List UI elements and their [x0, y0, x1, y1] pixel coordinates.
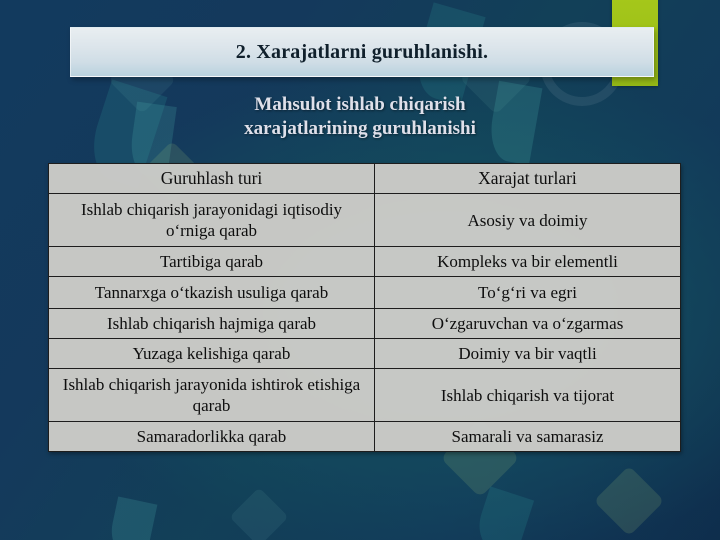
cell-group-type: Ishlab chiqarish jarayonidagi iqtisodiy … [49, 194, 375, 247]
cell-cost-type: Oʻzgaruvchan va oʻzgarmas [375, 309, 681, 339]
cell-group-type: Ishlab chiqarish hajmiga qarab [49, 309, 375, 339]
subtitle: Mahsulot ishlab chiqarish xarajatlarinin… [0, 93, 720, 141]
table-row: Ishlab chiqarish hajmiga qarab Oʻzgaruvc… [49, 309, 681, 339]
leaf-watermark-icon [594, 466, 665, 537]
leaf-watermark-icon [472, 486, 534, 540]
cell-cost-type: Doimiy va bir vaqtli [375, 339, 681, 369]
subtitle-line-2: xarajatlarining guruhlanishi [0, 117, 720, 141]
cell-cost-type: Samarali va samarasiz [375, 422, 681, 452]
cell-group-type: Tartibiga qarab [49, 247, 375, 277]
title-banner: 2. Xarajatlarni guruhlanishi. [70, 27, 654, 77]
column-header-cost-type: Xarajat turlari [375, 164, 681, 194]
subtitle-line-1: Mahsulot ishlab chiqarish [0, 93, 720, 117]
table-row: Ishlab chiqarish jarayonidagi iqtisodiy … [49, 194, 681, 247]
table-header-row: Guruhlash turi Xarajat turlari [49, 164, 681, 194]
cell-group-type: Ishlab chiqarish jarayonida ishtirok eti… [49, 369, 375, 422]
cell-group-type: Yuzaga kelishiga qarab [49, 339, 375, 369]
cell-cost-type: Ishlab chiqarish va tijorat [375, 369, 681, 422]
cell-cost-type: Toʻgʻri va egri [375, 277, 681, 309]
table-row: Samaradorlikka qarab Samarali va samaras… [49, 422, 681, 452]
column-header-group-type: Guruhlash turi [49, 164, 375, 194]
table-row: Ishlab chiqarish jarayonida ishtirok eti… [49, 369, 681, 422]
slide-canvas: 2. Xarajatlarni guruhlanishi. Mahsulot i… [0, 0, 720, 540]
table-row: Yuzaga kelishiga qarab Doimiy va bir vaq… [49, 339, 681, 369]
page-title: 2. Xarajatlarni guruhlanishi. [236, 41, 489, 64]
cell-group-type: Samaradorlikka qarab [49, 422, 375, 452]
cell-group-type: Tannarxga oʻtkazish usuliga qarab [49, 277, 375, 309]
classification-table: Guruhlash turi Xarajat turlari Ishlab ch… [48, 163, 681, 452]
cell-cost-type: Asosiy va doimiy [375, 194, 681, 247]
table-row: Tannarxga oʻtkazish usuliga qarab Toʻgʻr… [49, 277, 681, 309]
cell-cost-type: Kompleks va bir elementli [375, 247, 681, 277]
table-row: Tartibiga qarab Kompleks va bir elementl… [49, 247, 681, 277]
leaf-watermark-icon [229, 487, 288, 540]
leaf-watermark-icon [107, 496, 158, 540]
